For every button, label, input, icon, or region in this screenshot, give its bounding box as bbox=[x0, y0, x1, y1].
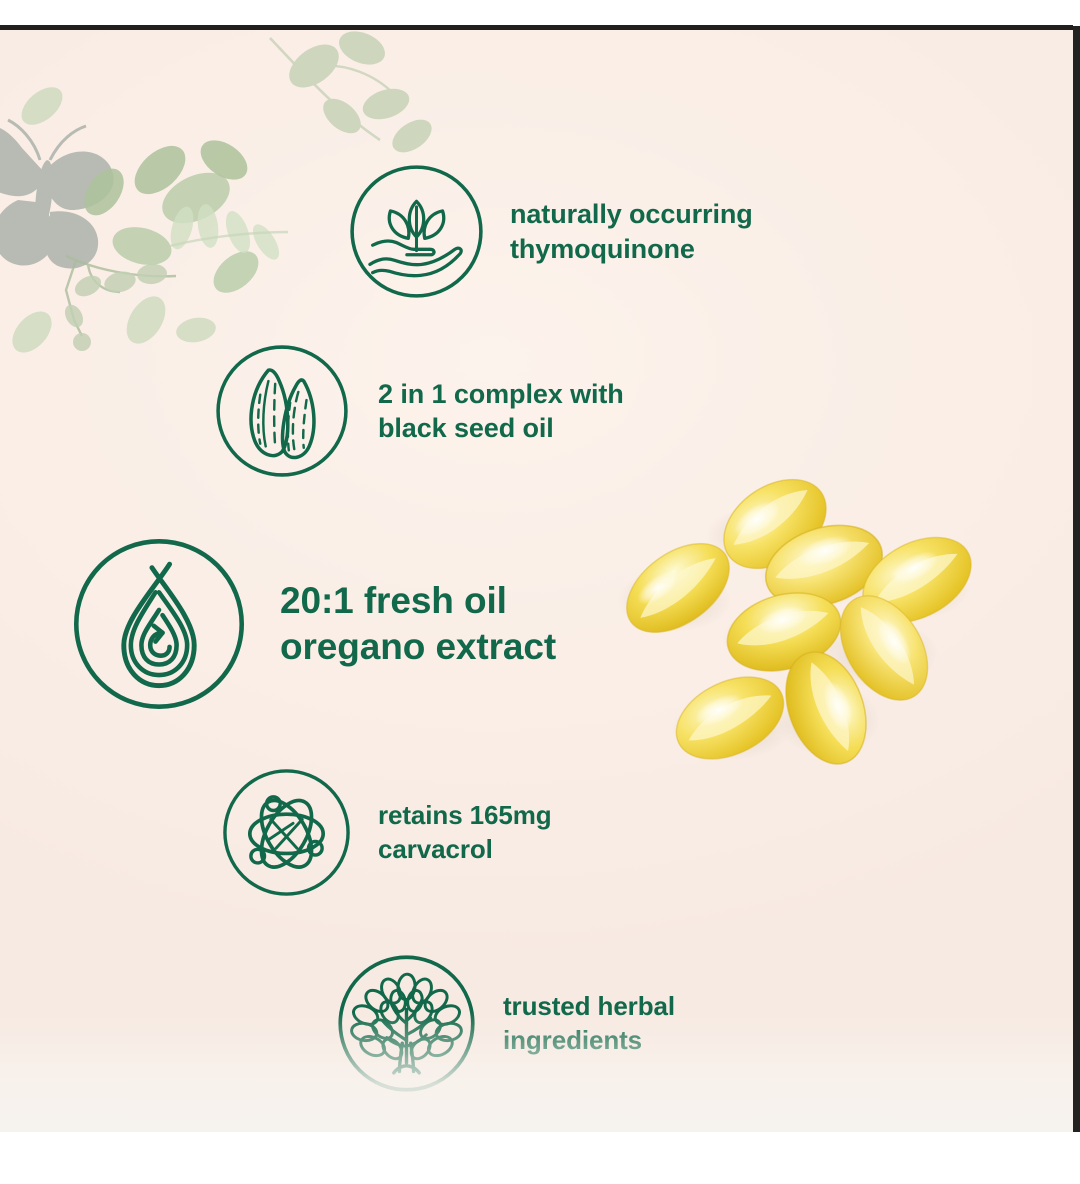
infographic-root: naturally occurring thymoquinone bbox=[0, 0, 1080, 1184]
feature-fresh-oil-oregano-extract: 20:1 fresh oil oregano extract bbox=[71, 536, 556, 712]
feature-retains-carvacrol: retains 165mg carvacrol bbox=[221, 767, 552, 898]
feature-label: trusted herbal ingredients bbox=[503, 990, 675, 1058]
infographic-canvas: naturally occurring thymoquinone bbox=[0, 30, 1073, 1132]
tree-icon bbox=[336, 953, 477, 1094]
feature-trusted-herbal-ingredients: trusted herbal ingredients bbox=[336, 953, 675, 1094]
screen-bezel-top bbox=[0, 0, 1080, 30]
feature-naturally-occurring-thymoquinone: naturally occurring thymoquinone bbox=[348, 163, 753, 300]
oil-droplet-icon bbox=[71, 536, 247, 712]
page-bottom-margin bbox=[0, 1132, 1080, 1184]
feature-label: naturally occurring thymoquinone bbox=[510, 197, 753, 266]
black-seed-icon bbox=[214, 343, 350, 479]
hand-holding-plant-icon bbox=[348, 163, 485, 300]
molecule-atom-icon bbox=[221, 767, 352, 898]
butterfly-silhouette bbox=[0, 120, 114, 268]
oregano-oil-softgel-capsules bbox=[612, 428, 1012, 798]
screen-bezel-right bbox=[1073, 25, 1080, 1132]
feature-label: 2 in 1 complex with black seed oil bbox=[378, 377, 624, 446]
feature-label: retains 165mg carvacrol bbox=[378, 799, 552, 867]
screen-bezel-right-cap bbox=[1073, 0, 1080, 26]
feature-label: 20:1 fresh oil oregano extract bbox=[280, 578, 556, 671]
feature-two-in-one-complex: 2 in 1 complex with black seed oil bbox=[214, 343, 624, 479]
